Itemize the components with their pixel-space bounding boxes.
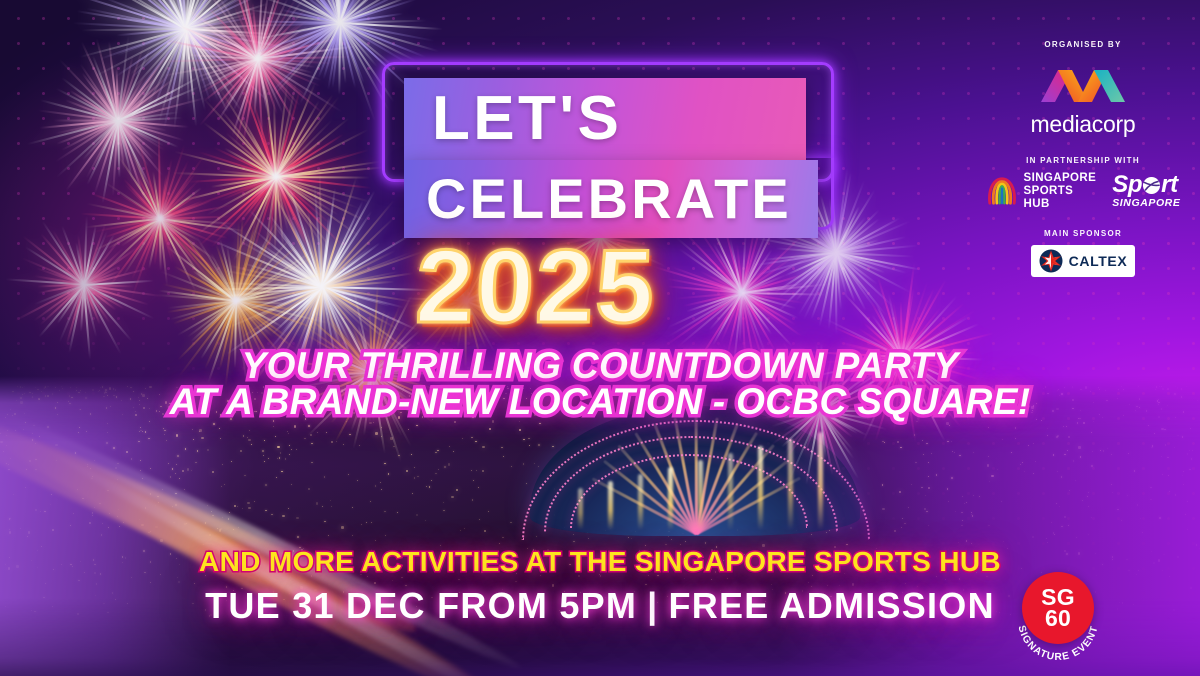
caltex-logo: CALTEX (1031, 245, 1135, 277)
mediacorp-m-icon (1041, 56, 1125, 102)
organised-by-label: ORGANISED BY (988, 40, 1178, 49)
mediacorp-wordmark: mediacorp (988, 111, 1178, 138)
caltex-star-icon (1039, 249, 1063, 273)
sg60-signature-event-badge: SIGNATURE EVENT SG 60 (1012, 570, 1104, 662)
sport-singapore-logo: Sp rt SINGAPORE (1112, 173, 1180, 209)
sg60-circle: SG 60 (1022, 572, 1094, 644)
sports-hub-arcs-icon (986, 176, 1018, 206)
sport-wordmark: Sp rt (1112, 173, 1180, 196)
tagline-line-2: AT A BRAND-NEW LOCATION - OCBC SQUARE! (0, 381, 1200, 423)
organiser-block: ORGANISED BY (988, 40, 1178, 138)
event-datetime: TUE 31 DEC FROM 5PM (205, 585, 637, 626)
partnership-label: IN PARTNERSHIP WITH (988, 156, 1178, 165)
event-poster: LET'S CELEBRATE 2025 YOUR THRILLING COUN… (0, 0, 1200, 676)
partnership-block: IN PARTNERSHIP WITH SINGAPORE (988, 156, 1178, 211)
sg60-line-2: 60 (1045, 608, 1071, 629)
year-2025: 2025 (414, 228, 658, 347)
partner-logos-row: SINGAPORE SPORTS HUB Sp rt SINGAPORE (988, 172, 1178, 211)
title-celebrate: CELEBRATE (404, 160, 818, 238)
sports-hub-line-2: SPORTS HUB (1024, 185, 1099, 211)
separator: | (637, 585, 668, 626)
main-sponsor-label: MAIN SPONSOR (988, 229, 1178, 238)
singapore-sports-hub-logo: SINGAPORE SPORTS HUB (986, 172, 1099, 211)
caltex-wordmark: CALTEX (1069, 253, 1128, 269)
sport-singapore-globe-icon (1142, 176, 1161, 195)
sponsor-rail: ORGANISED BY (988, 40, 1178, 295)
title-lets: LET'S (404, 78, 806, 160)
sport-text: Sp (1112, 173, 1142, 196)
main-sponsor-block: MAIN SPONSOR CALTEX (988, 229, 1178, 277)
sport-singapore-subtext: SINGAPORE (1112, 197, 1180, 209)
sport-text-tail: rt (1161, 173, 1178, 196)
admission-info: FREE ADMISSION (669, 585, 995, 626)
sports-hub-wordmark: SINGAPORE SPORTS HUB (1024, 172, 1099, 211)
sports-hub-line-1: SINGAPORE (1024, 172, 1099, 185)
